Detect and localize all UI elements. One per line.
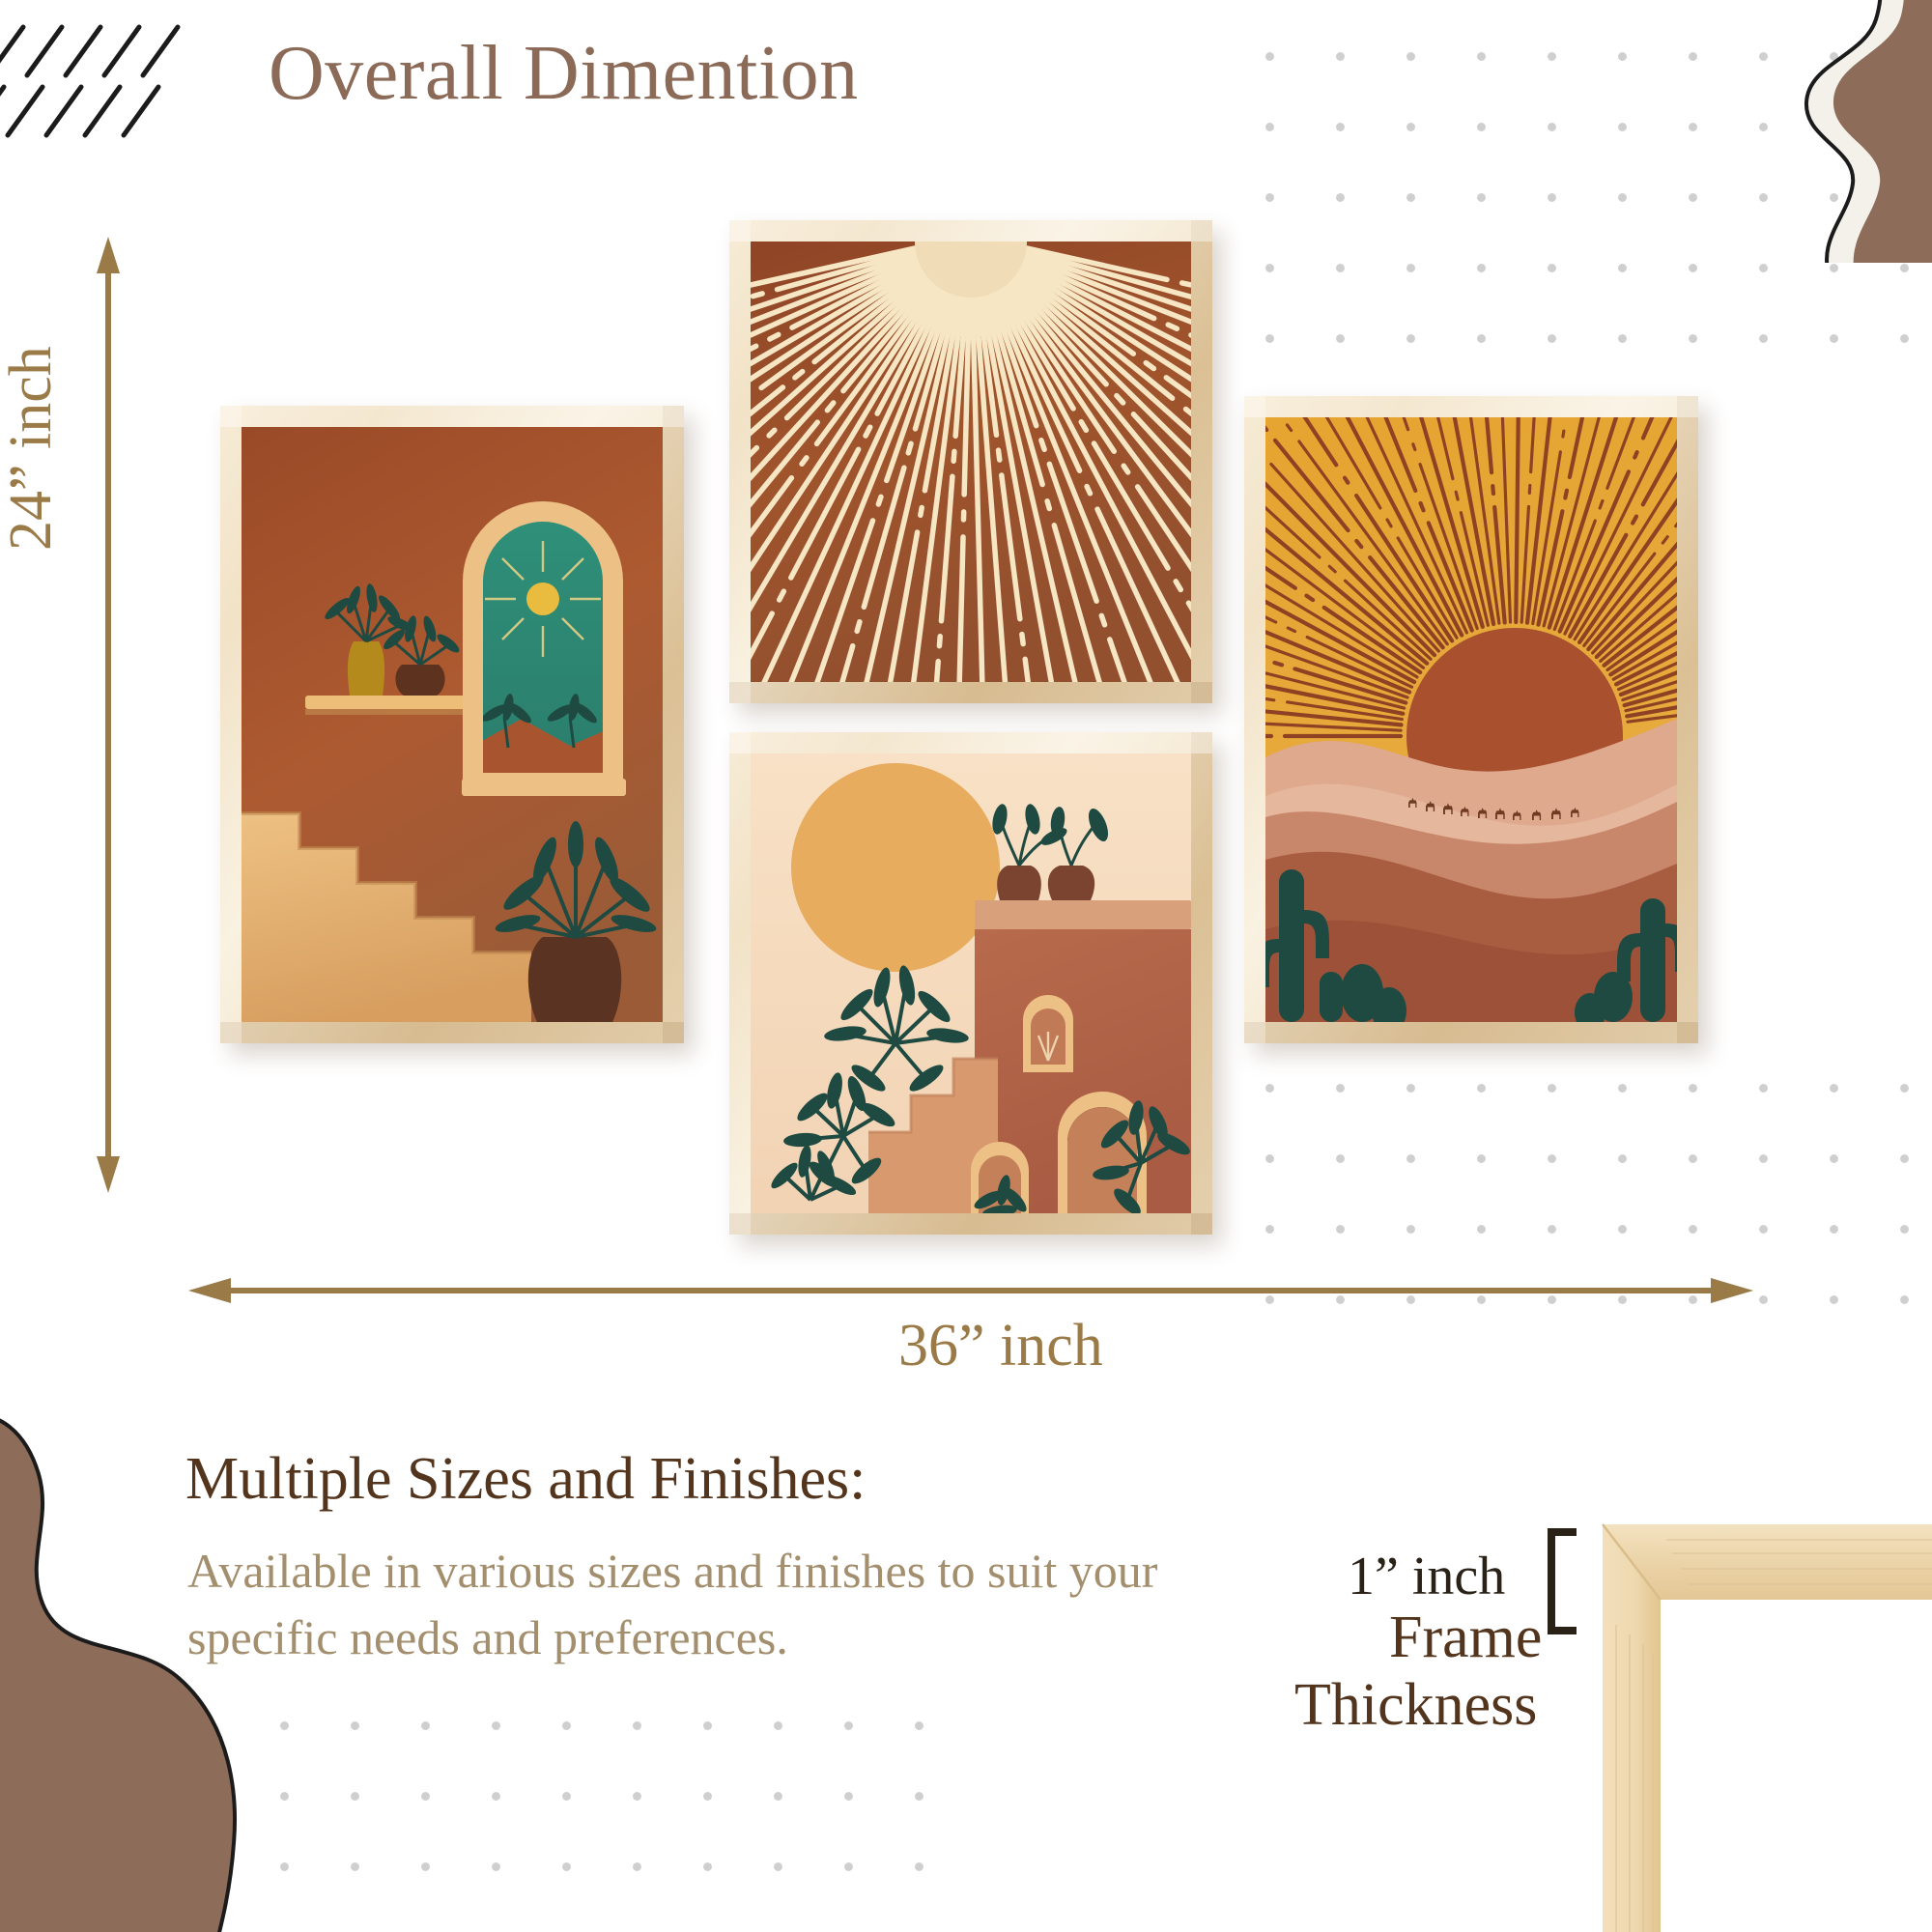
artwork-courtyard-plants — [751, 753, 1191, 1213]
frame-thickness-label-line1: Frame — [1389, 1604, 1542, 1672]
decor-blob-top-right — [1590, 0, 1932, 263]
section-body: Available in various sizes and finishes … — [187, 1538, 1240, 1671]
framed-artwork-left[interactable] — [220, 406, 684, 1043]
hatch-lines-icon — [0, 19, 213, 145]
dot-grid-bottom-left — [249, 1690, 964, 1913]
section-heading: Multiple Sizes and Finishes: — [185, 1445, 866, 1514]
frame-thickness-label-line2: Thickness — [1294, 1671, 1537, 1740]
framed-artwork-right[interactable] — [1244, 396, 1698, 1043]
framed-artwork-top-center[interactable] — [729, 220, 1212, 703]
frame-thickness-value: 1” inch — [1348, 1546, 1505, 1607]
height-dimension-label: 24” inch — [0, 346, 66, 551]
height-dimension-arrow — [97, 237, 120, 1193]
bracket-icon — [1544, 1528, 1582, 1634]
artwork-terracotta-arch — [241, 427, 663, 1022]
artwork-desert-sunrise — [1265, 417, 1677, 1022]
frame-corner-sample — [1599, 1519, 1932, 1932]
infographic-canvas: Overall Dimention 24” inch 36” inch — [0, 0, 1932, 1932]
page-title: Overall Dimention — [269, 35, 859, 112]
width-dimension-label: 36” inch — [898, 1312, 1103, 1380]
artwork-sunburst-rust — [751, 241, 1191, 682]
width-dimension-arrow — [188, 1278, 1753, 1303]
framed-artwork-bottom-center[interactable] — [729, 732, 1212, 1235]
